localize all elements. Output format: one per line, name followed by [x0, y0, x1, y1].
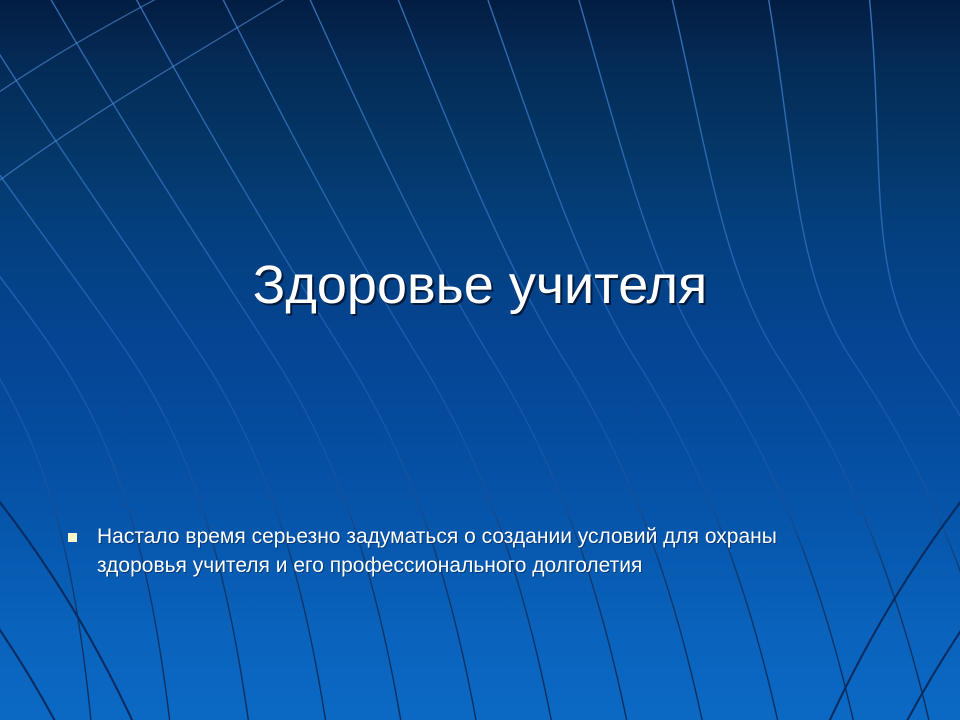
list-item: Настало время серьезно задуматься о созд… — [60, 522, 850, 580]
slide-body: Настало время серьезно задуматься о созд… — [60, 522, 850, 580]
square-bullet-icon — [68, 533, 77, 542]
globe-wireframe-background — [0, 0, 960, 720]
bullet-text: Настало время серьезно задуматься о созд… — [97, 525, 777, 577]
slide-canvas: Здоровье учителя Настало время серьезно … — [0, 0, 960, 720]
slide-title: Здоровье учителя — [0, 254, 960, 316]
